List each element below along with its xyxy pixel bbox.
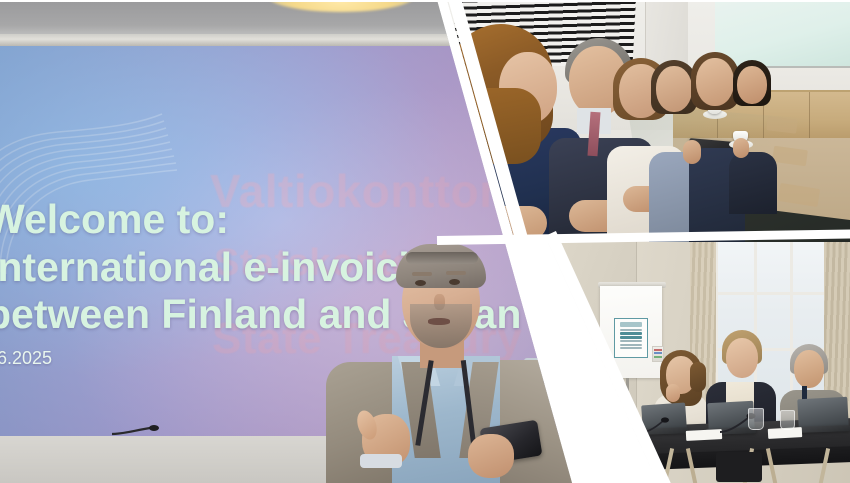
water-glass (748, 408, 764, 430)
speaker-eye-left (415, 280, 426, 286)
speaker-hand-right (468, 434, 514, 478)
table-microphone-icon (110, 424, 174, 436)
speaker-brow-right (446, 271, 466, 275)
photo-panel-discussion (540, 242, 850, 483)
speaker-figure (330, 238, 580, 483)
speaker-mouth (428, 318, 450, 325)
chair (716, 452, 762, 482)
water-glass (780, 410, 795, 430)
photo-conference-table-meeting: Agenda Introductions Presentation on int… (437, 0, 850, 242)
ceiling-light-icon (266, 0, 416, 12)
speaker-eye-right (449, 279, 460, 285)
projected-agenda-slide: Agenda Introductions Presentation on int… (715, 0, 850, 68)
microphone-icon (636, 414, 670, 436)
speaker-brow-left (412, 272, 432, 276)
slide-title-line-1: Welcome to: (0, 196, 546, 244)
slide-date: .6.2025 (0, 348, 52, 369)
speaker-shirt-cuff (360, 454, 402, 468)
glasses-icon (406, 252, 478, 264)
printed-sign (614, 318, 648, 358)
speaker-hair (396, 244, 486, 288)
flipchart-leg (626, 378, 629, 440)
event-photo-collage: Valtiokonttori Statskontoret State Treas… (0, 0, 850, 483)
chair (618, 438, 640, 482)
